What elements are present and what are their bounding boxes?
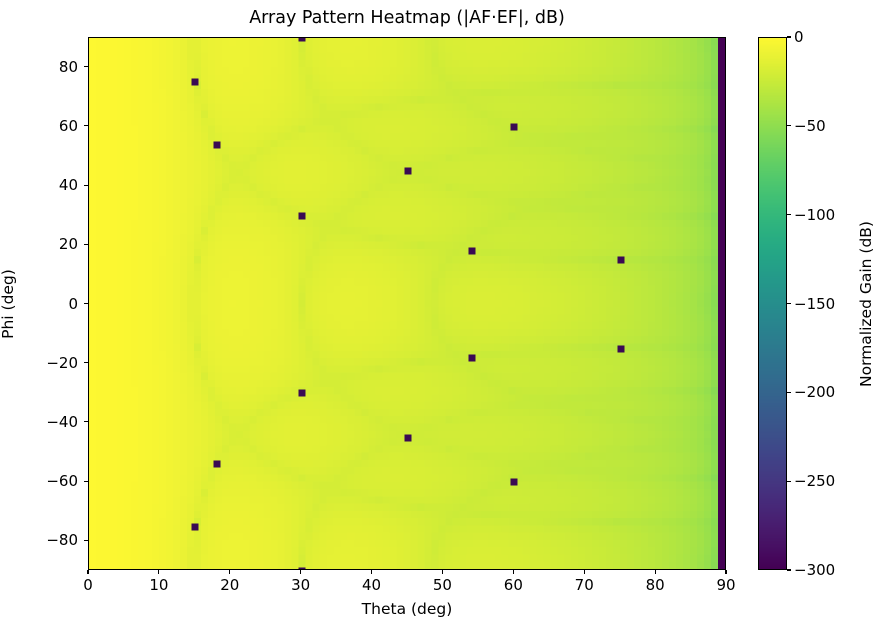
- x-tick-mark: [442, 570, 443, 574]
- x-tick-label: 10: [149, 576, 168, 594]
- heatmap-image: [89, 38, 725, 569]
- x-tick-mark: [229, 570, 230, 574]
- y-tick-label: 60: [59, 117, 78, 135]
- y-tick-mark: [84, 125, 88, 126]
- x-tick-label: 60: [504, 576, 523, 594]
- y-axis-label: Phi (deg): [0, 269, 17, 339]
- y-tick-mark: [84, 66, 88, 67]
- x-tick-label: 70: [575, 576, 594, 594]
- colorbar-tick-label: −150: [794, 295, 835, 313]
- x-tick-label: 0: [83, 576, 93, 594]
- colorbar-gradient: [759, 38, 786, 569]
- colorbar-tick-mark: [787, 36, 791, 37]
- y-tick-mark: [84, 185, 88, 186]
- colorbar-tick-mark: [787, 303, 791, 304]
- colorbar-tick-mark: [787, 125, 791, 126]
- colorbar-tick-mark: [787, 392, 791, 393]
- y-tick-mark: [84, 540, 88, 541]
- x-tick-label: 80: [646, 576, 665, 594]
- heatmap-axes[interactable]: [88, 37, 726, 570]
- y-tick-label: 80: [59, 58, 78, 76]
- y-tick-mark: [84, 481, 88, 482]
- colorbar-tick-label: 0: [794, 28, 804, 46]
- x-tick-label: 90: [716, 576, 735, 594]
- colorbar-tick-label: −50: [794, 117, 826, 135]
- figure-canvas: Array Pattern Heatmap (|AF·EF|, dB) 0102…: [0, 0, 885, 637]
- y-tick-mark: [84, 362, 88, 363]
- x-tick-mark: [655, 570, 656, 574]
- x-tick-mark: [584, 570, 585, 574]
- x-tick-mark: [513, 570, 514, 574]
- y-tick-label: 40: [59, 176, 78, 194]
- x-tick-label: 20: [220, 576, 239, 594]
- x-tick-mark: [158, 570, 159, 574]
- y-tick-label: −20: [46, 354, 78, 372]
- y-tick-mark: [84, 303, 88, 304]
- colorbar-tick-mark: [787, 569, 791, 570]
- y-tick-label: 0: [68, 295, 78, 313]
- y-tick-label: −40: [46, 413, 78, 431]
- x-tick-mark: [87, 570, 88, 574]
- colorbar-tick-mark: [787, 214, 791, 215]
- x-tick-label: 50: [433, 576, 452, 594]
- x-tick-label: 30: [291, 576, 310, 594]
- y-tick-mark: [84, 421, 88, 422]
- x-tick-label: 40: [362, 576, 381, 594]
- x-tick-mark: [371, 570, 372, 574]
- y-tick-label: 20: [59, 235, 78, 253]
- x-tick-mark: [725, 570, 726, 574]
- x-tick-mark: [300, 570, 301, 574]
- colorbar-tick-label: −100: [794, 206, 835, 224]
- y-tick-label: −60: [46, 472, 78, 490]
- y-tick-mark: [84, 244, 88, 245]
- colorbar-tick-mark: [787, 481, 791, 482]
- colorbar-tick-label: −200: [794, 383, 835, 401]
- chart-title: Array Pattern Heatmap (|AF·EF|, dB): [88, 8, 726, 28]
- colorbar-tick-label: −250: [794, 472, 835, 490]
- colorbar-label: Normalized Gain (dB): [857, 221, 875, 387]
- colorbar-tick-label: −300: [794, 561, 835, 579]
- y-tick-label: −80: [46, 531, 78, 549]
- x-axis-label: Theta (deg): [88, 600, 726, 618]
- colorbar[interactable]: [758, 37, 787, 570]
